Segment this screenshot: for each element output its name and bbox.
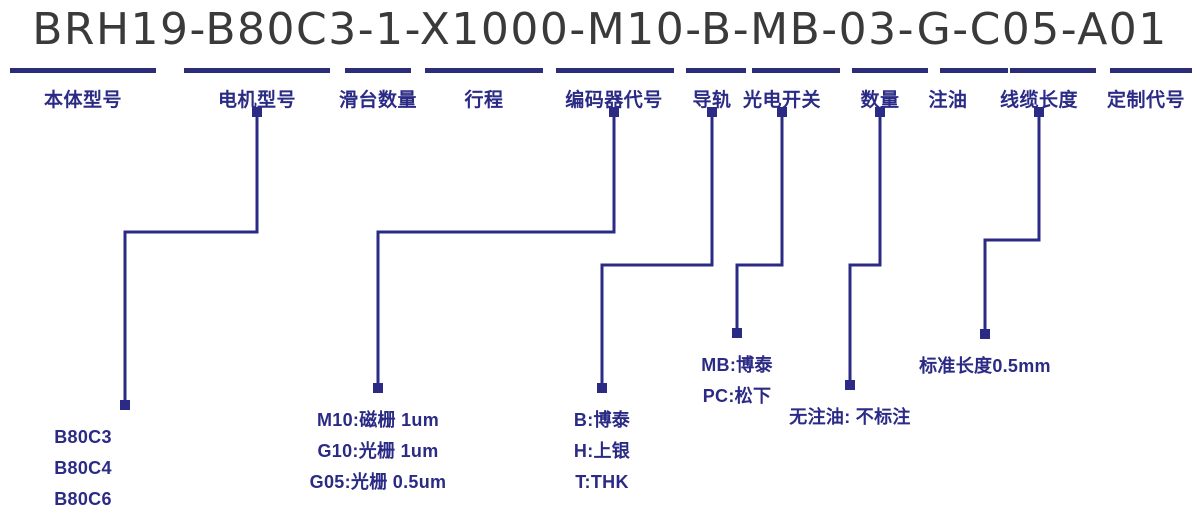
segment-rule-oiling	[940, 68, 1008, 73]
segment-rule-slider-count	[345, 68, 411, 73]
segment-label-custom-code: 定制代号	[1026, 85, 1200, 112]
option-item: B80C3	[0, 422, 233, 453]
option-item: H:上银	[452, 436, 752, 467]
option-list-quantity: 无注油: 不标注	[700, 402, 1000, 433]
leader-cap-bottom-encoder-code	[373, 383, 383, 393]
segment-rule-quantity	[852, 68, 928, 73]
leader-line-quantity	[850, 112, 880, 388]
leader-cap-bottom-motor-model	[120, 400, 130, 410]
leader-cap-bottom-cable-length	[980, 329, 990, 339]
option-list-cable-length: 标准长度0.5mm	[835, 351, 1135, 382]
option-item: B80C4	[0, 453, 233, 484]
segment-rule-stroke	[425, 68, 543, 73]
segment-rule-cable-length	[1010, 68, 1096, 73]
segment-rule-custom-code	[1110, 68, 1192, 73]
leader-line-encoder-code	[378, 112, 614, 391]
option-item: B80C6	[0, 484, 233, 515]
leader-line-cable-length	[985, 112, 1039, 337]
segment-rule-guide-rail	[686, 68, 746, 73]
segment-rule-encoder-code	[556, 68, 674, 73]
leader-line-motor-model	[125, 112, 257, 408]
segment-rule-photoelectric-switch	[752, 68, 840, 73]
option-item: 标准长度0.5mm	[835, 351, 1135, 382]
option-item: 无注油: 不标注	[700, 402, 1000, 433]
option-item: T:THK	[452, 467, 752, 498]
model-code-breakdown-diagram: BRH19-B80C3-1-X1000-M10-B-MB-03-G-C05-A0…	[0, 0, 1200, 519]
option-list-motor-model: B80C3B80C4B80C6	[0, 422, 233, 515]
segment-rule-motor-model	[184, 68, 330, 73]
model-code-headline: BRH19-B80C3-1-X1000-M10-B-MB-03-G-C05-A0…	[0, 4, 1200, 55]
segment-rule-body-model	[10, 68, 156, 73]
leader-cap-bottom-photoelectric-switch	[732, 328, 742, 338]
leader-line-photoelectric-switch	[737, 112, 782, 336]
